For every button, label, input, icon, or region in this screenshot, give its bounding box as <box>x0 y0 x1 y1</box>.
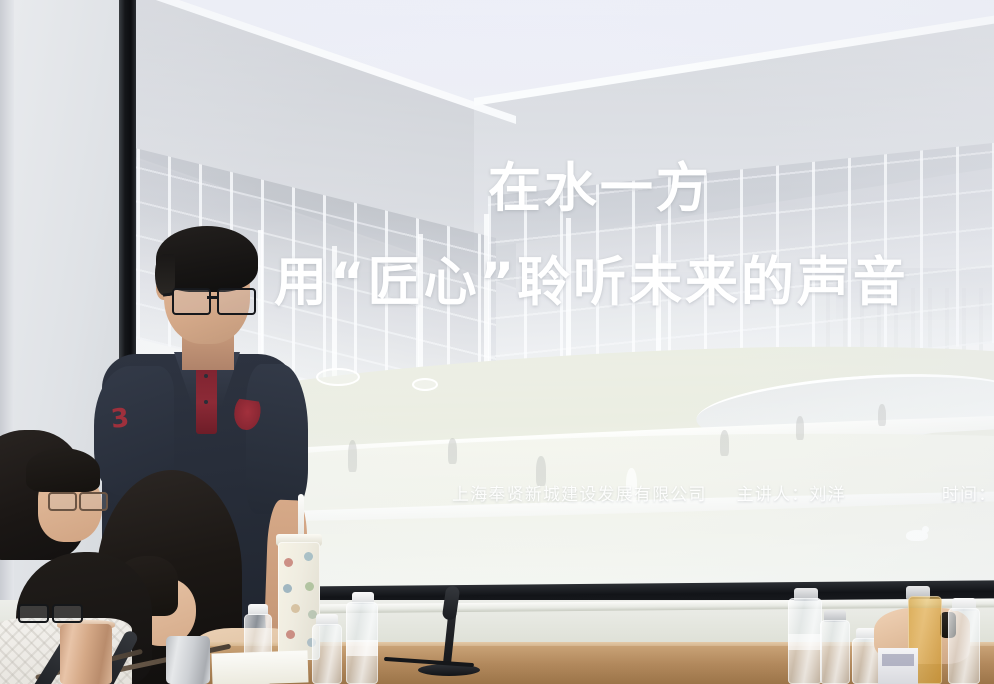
tumbler-dot <box>283 584 292 593</box>
slide-title: 在水一方 <box>488 146 712 222</box>
tumbler-dot <box>284 558 293 567</box>
glasses-lens-left <box>172 288 211 315</box>
sleeve-number-badge: 3 <box>106 403 133 435</box>
park-figure <box>796 416 804 440</box>
polo-placket <box>196 364 217 434</box>
slide-footer: 上海奉贤新城建设发展有限公司 主讲人：刘洋 时间： <box>452 480 994 505</box>
park-figure <box>348 440 357 472</box>
bottle-label <box>346 640 378 656</box>
glasses-bridge <box>207 296 217 299</box>
skylight-oval <box>316 368 360 386</box>
audience-glasses-icon <box>48 492 104 508</box>
tumbler-dot <box>286 630 295 639</box>
water-bottle <box>948 608 980 684</box>
rose-gold-tumbler <box>60 624 112 684</box>
slide-subtitle: 用“匠心”聆听未来的声音 <box>274 240 909 316</box>
park-figure <box>878 404 886 426</box>
glasses-icon <box>172 288 256 312</box>
glasses-lens-right <box>52 604 83 623</box>
glasses-lens-left <box>48 492 77 511</box>
audience-glasses-icon <box>18 604 80 620</box>
tumbler-dot <box>291 604 300 613</box>
footer-time: 时间： <box>942 480 994 505</box>
presentation-photo: 在水一方 用“匠心”聆听未来的声音 上海奉贤新城建设发展有限公司 主讲人：刘洋 … <box>0 0 994 684</box>
audience-member-hair <box>26 448 100 492</box>
glasses-lens-right <box>217 288 256 315</box>
park-dog <box>906 530 928 541</box>
water-bottle <box>820 620 850 684</box>
skylight-oval <box>412 378 438 391</box>
tumbler-dot <box>305 582 314 591</box>
park-figure <box>720 430 729 456</box>
tumbler-straw <box>298 494 304 538</box>
footer-speaker: 主讲人：刘洋 <box>737 480 846 505</box>
presenter-sleeve-right <box>246 364 308 514</box>
small-carton <box>878 648 918 684</box>
water-bottle <box>312 624 342 684</box>
bottle-label <box>788 634 822 650</box>
footer-organization: 上海奉贤新城建设发展有限公司 <box>452 480 707 505</box>
tumbler-dot <box>304 552 313 561</box>
notepad <box>211 650 308 684</box>
wall-shadow <box>0 0 14 684</box>
glasses-lens-left <box>18 604 49 623</box>
chest-logo <box>232 398 262 431</box>
park-figure <box>448 438 457 464</box>
glasses-lens-right <box>79 492 108 511</box>
steel-tumbler <box>166 636 210 684</box>
